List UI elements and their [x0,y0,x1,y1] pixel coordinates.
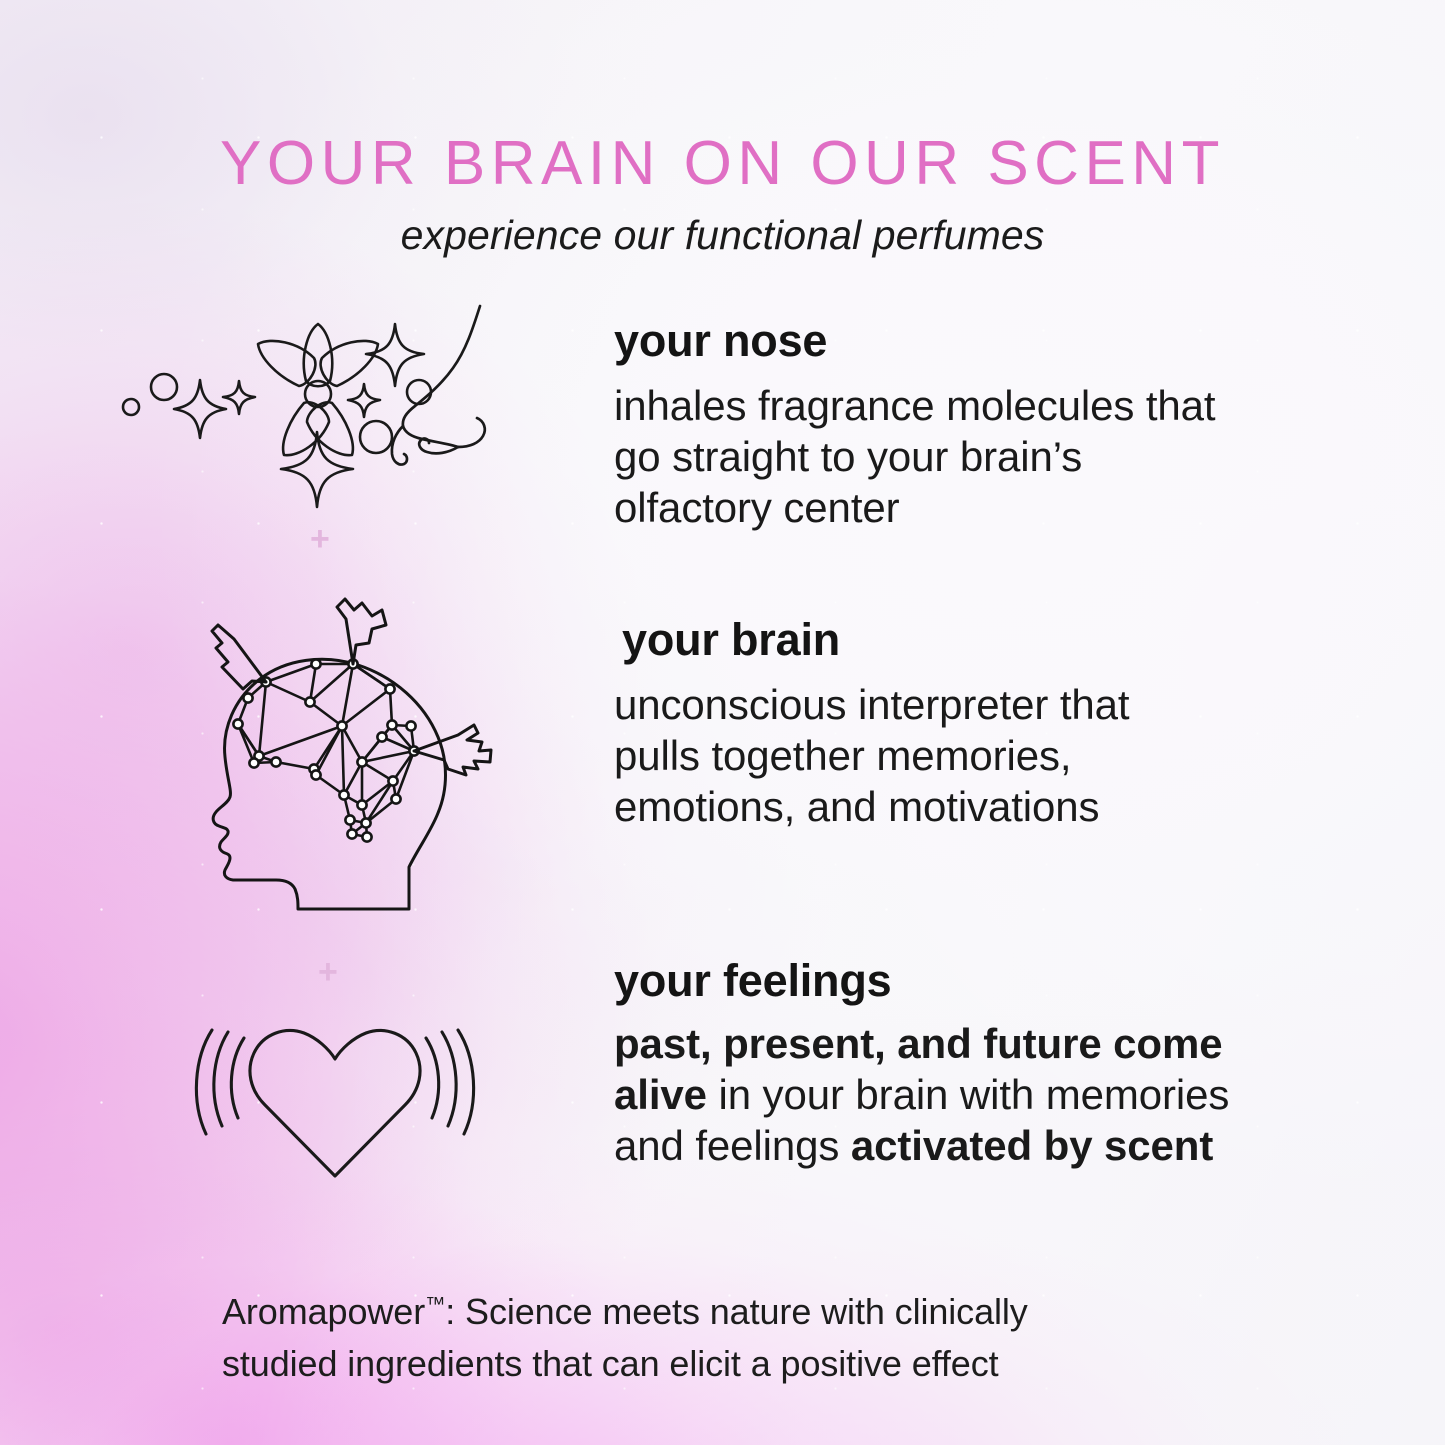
section-feelings-body-line-1: past, present, and future come [614,1019,1394,1070]
pulse-arc-right-inner [458,1030,474,1134]
lightning-bolt-icon-top [337,599,386,664]
section-nose-heading: your nose [614,318,1374,363]
footer-brand-name: Aromapower [222,1291,425,1332]
head-brain-network-icon [186,585,506,940]
section-feelings-body-line-2: alive in your brain with memories [614,1070,1394,1121]
lightning-bolt-icon-right [414,725,491,775]
section-nose-body-line-3: olfactory center [614,483,1374,534]
section-nose-body-line-1: inhales fragrance molecules that [614,381,1374,432]
section-brain-heading: your brain [614,617,1314,662]
dot-circle-medium-1 [151,374,177,400]
section-brain: your brain unconscious interpreter that … [614,617,1314,832]
section-brain-body-line-2: pulls together memories, [614,731,1314,782]
footer-disclaimer: Aromapower™: Science meets nature with c… [222,1286,1302,1390]
section-brain-body-line-3: emotions, and motivations [614,782,1314,833]
trademark-symbol: ™ [425,1294,445,1316]
sparkle-icon-2 [223,381,255,414]
pulse-arc-left-outer [231,1038,244,1118]
feelings-bold-3: activated by scent [851,1122,1213,1169]
section-feelings-body-line-3: and feelings activated by scent [614,1121,1394,1172]
section-feelings-body: past, present, and future come alive in … [614,1019,1394,1171]
section-nose: your nose inhales fragrance molecules th… [614,318,1374,533]
pulse-arc-left-middle [214,1032,228,1126]
feelings-plain-1: in your brain with memories [707,1071,1229,1118]
footer-line-1: Aromapower™: Science meets nature with c… [222,1286,1302,1338]
sparkle-icon-1 [174,380,226,438]
plus-separator-2: + [318,955,338,989]
section-brain-body: unconscious interpreter that pulls toget… [614,680,1314,832]
page-subtitle: experience our functional perfumes [0,212,1445,259]
pulse-arc-right-outer [426,1038,439,1118]
nose-bridge-line [403,306,480,447]
section-nose-body: inhales fragrance molecules that go stra… [614,381,1374,533]
heart-outline [250,1030,420,1176]
section-brain-body-line-1: unconscious interpreter that [614,680,1314,731]
feelings-bold-2: alive [614,1071,707,1118]
dot-circle-small-1 [123,399,139,415]
pulse-arc-right-middle [442,1032,456,1126]
plus-separator-1: + [310,522,330,556]
section-feelings-heading: your feelings [614,958,1394,1003]
nose-tip-line [458,418,485,447]
infographic-page: YOUR BRAIN ON OUR SCENT experience our f… [0,0,1445,1445]
feelings-bold-1: past, present, and future come [614,1020,1222,1067]
page-title: YOUR BRAIN ON OUR SCENT [0,128,1445,199]
section-feelings: your feelings past, present, and future … [614,958,1394,1171]
dot-circle-medium-2 [407,380,431,404]
sparkle-icon-3 [348,384,380,417]
pulse-arc-left-inner [196,1030,212,1134]
flower-sparkles-nose-icon [108,302,578,502]
sparkle-icon-5 [281,432,353,507]
feelings-plain-2: and feelings [614,1122,851,1169]
dot-circle-large-1 [360,421,392,453]
footer-line-2: studied ingredients that can elicit a po… [222,1338,1302,1390]
heart-pulse-icon [190,1008,480,1188]
section-nose-body-line-2: go straight to your brain’s [614,432,1374,483]
